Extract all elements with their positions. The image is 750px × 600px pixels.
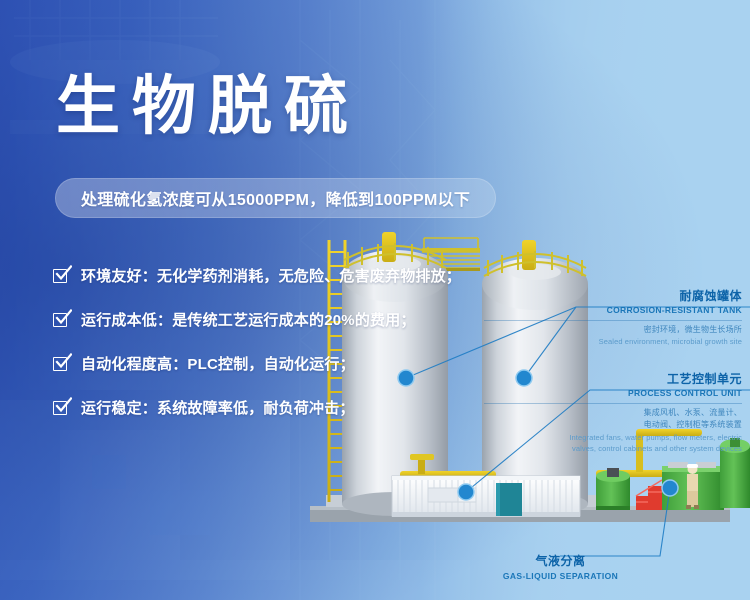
list-item: 运行成本低：是传统工艺运行成本的20%的费用； xyxy=(53,306,461,332)
callout-title-en: GAS-LIQUID SEPARATION xyxy=(498,571,623,581)
callout-sub-line1: 集成风机、水泵、流量计、 xyxy=(480,407,742,419)
list-item: 自动化程度高：PLC控制，自动化运行； xyxy=(53,350,461,376)
callout-title: 耐腐蚀罐体 xyxy=(480,288,742,304)
checkbox-checked-icon xyxy=(53,267,70,284)
callout-divider xyxy=(484,403,742,404)
list-item: 运行稳定：系统故障率低，耐负荷冲击； xyxy=(53,394,461,420)
callout-sub-en-line1: Integrated fans, water pumps, flow meter… xyxy=(480,432,742,443)
callout-sub-en: Sealed environment, microbial growth sit… xyxy=(480,336,742,347)
list-item-label: 自动化程度高：PLC控制，自动化运行； xyxy=(81,353,355,374)
green-vessel-small xyxy=(596,468,630,510)
callout-title: 气液分离 xyxy=(498,552,623,569)
checkbox-checked-icon xyxy=(53,399,70,416)
page-title: 生物脱硫 xyxy=(56,74,360,138)
callout-sub: 密封环境，微生物生长场所 xyxy=(480,324,742,336)
callout-sub-en-line2: valves, control cabinets and other syste… xyxy=(480,443,742,454)
list-item-label: 运行成本低：是传统工艺运行成本的20%的费用； xyxy=(81,309,416,330)
red-stairs xyxy=(636,480,662,510)
control-container xyxy=(392,476,580,517)
callout-process-control-unit: 工艺控制单元 PROCESS CONTROL UNIT 集成风机、水泵、流量计、… xyxy=(480,371,742,454)
callout-title-en: CORROSION-RESISTANT TANK xyxy=(480,304,742,317)
worker-figure xyxy=(686,464,699,509)
subtitle-text: 处理硫化氢浓度可从15000PPM，降低到100PPM以下 xyxy=(81,186,470,210)
callout-corrosion-resistant-tank: 耐腐蚀罐体 CORROSION-RESISTANT TANK 密封环境，微生物生… xyxy=(480,288,742,348)
callout-sub-line2: 电动阀、控制柜等系统装置 xyxy=(480,419,742,431)
subtitle-banner: 处理硫化氢浓度可从15000PPM，降低到100PPM以下 xyxy=(55,178,496,218)
list-item-label: 运行稳定：系统故障率低，耐负荷冲击； xyxy=(81,397,355,418)
callout-title-en: PROCESS CONTROL UNIT xyxy=(480,387,742,400)
feature-list: 环境友好：无化学药剂消耗，无危险、危害废弃物排放； 运行成本低：是传统工艺运行成… xyxy=(53,262,461,438)
list-item-label: 环境友好：无化学药剂消耗，无危险、危害废弃物排放； xyxy=(81,265,461,286)
callout-title: 工艺控制单元 xyxy=(480,371,742,387)
callout-gas-liquid-separation: 气液分离 GAS-LIQUID SEPARATION xyxy=(498,552,623,581)
checkbox-checked-icon xyxy=(53,355,70,372)
callout-divider xyxy=(484,320,742,321)
list-item: 环境友好：无化学药剂消耗，无危险、危害废弃物排放； xyxy=(53,262,461,288)
banner-root: 生物脱硫 处理硫化氢浓度可从15000PPM，降低到100PPM以下 环境友好：… xyxy=(0,0,750,600)
checkbox-checked-icon xyxy=(53,311,70,328)
